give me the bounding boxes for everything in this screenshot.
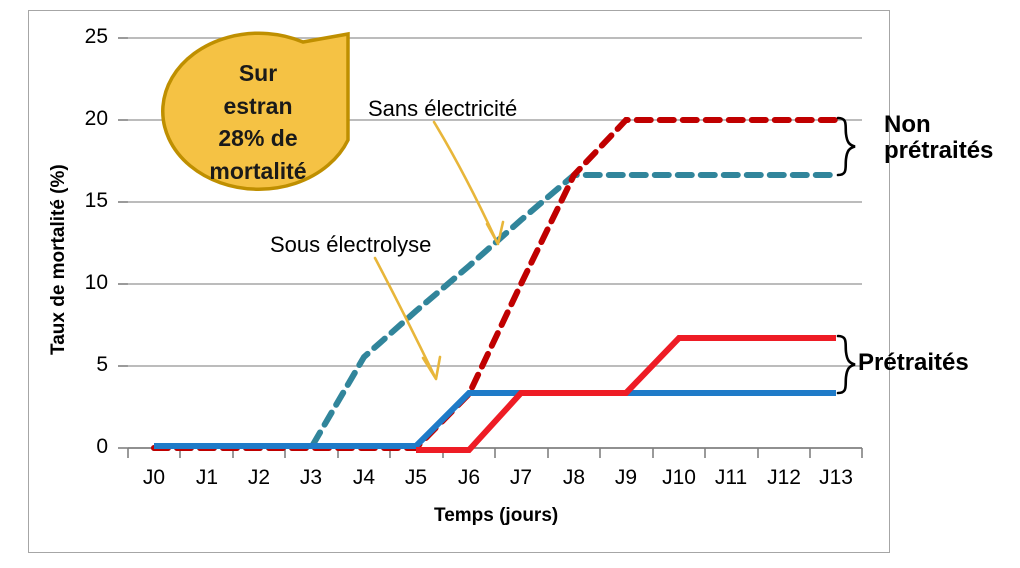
x-axis-title: Temps (jours) <box>434 505 558 527</box>
x-tick-j8: J8 <box>544 466 604 490</box>
x-tick-j7: J7 <box>491 466 551 490</box>
y-axis-ticks <box>118 38 128 448</box>
x-tick-j10: J10 <box>649 466 709 490</box>
y-tick-0: 0 <box>62 435 108 459</box>
callout-line-2: estran <box>178 90 338 123</box>
callout-line-4: mortalité <box>178 155 338 188</box>
x-tick-j0: J0 <box>124 466 184 490</box>
x-tick-j11: J11 <box>701 466 761 490</box>
label-non-pretraites-line-2: prétraités <box>884 138 993 164</box>
chart-screenshot: 25 20 15 10 5 0 J0 J1 J2 J3 J4 J5 J6 J7 … <box>0 0 1020 568</box>
x-tick-j12: J12 <box>754 466 814 490</box>
y-tick-5: 5 <box>62 353 108 377</box>
brace-pretraites <box>838 336 855 393</box>
arrow-sans-electricite-line <box>434 122 496 240</box>
callout-line-3: 28% de <box>178 122 338 155</box>
y-axis-title: Taux de mortalité (%) <box>48 164 70 355</box>
label-non-pretraites: Non prétraités <box>884 112 993 163</box>
callout-sur-estran: Sur estran 28% de mortalité <box>178 57 338 188</box>
annotation-sans-electricite: Sans électricité <box>368 96 517 122</box>
label-pretraites-line-1: Prétraités <box>858 350 969 376</box>
x-tick-j5: J5 <box>386 466 446 490</box>
label-pretraites: Prétraités <box>858 350 969 376</box>
arrow-sous-electrolyse-line <box>375 258 434 375</box>
annotation-sous-electrolyse: Sous électrolyse <box>270 232 431 258</box>
label-non-pretraites-line-1: Non <box>884 112 993 138</box>
x-tick-j6: J6 <box>439 466 499 490</box>
x-tick-j13: J13 <box>806 466 866 490</box>
y-tick-25: 25 <box>62 25 108 49</box>
x-tick-j9: J9 <box>596 466 656 490</box>
x-tick-j3: J3 <box>281 466 341 490</box>
brace-non-pretraites <box>838 118 855 175</box>
x-tick-j4: J4 <box>334 466 394 490</box>
y-tick-20: 20 <box>62 107 108 131</box>
x-tick-j1: J1 <box>177 466 237 490</box>
callout-line-1: Sur <box>178 57 338 90</box>
series-sous-electrolyse <box>154 175 836 448</box>
x-tick-j2: J2 <box>229 466 289 490</box>
